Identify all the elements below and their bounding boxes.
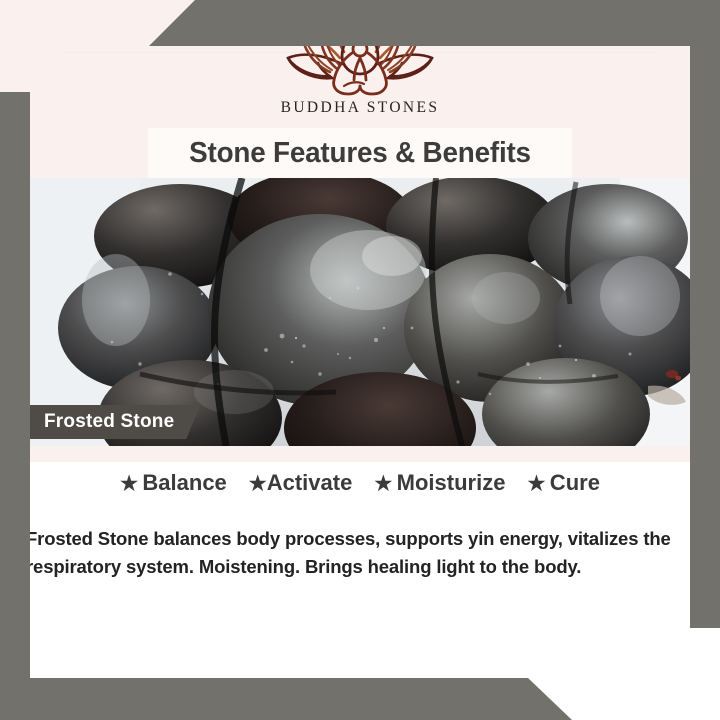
benefit-label: Activate <box>267 470 353 495</box>
frame-right-bar <box>690 0 720 720</box>
stone-name-tag: Frosted Stone <box>20 405 200 439</box>
stone-description: Frosted Stone balances body processes, s… <box>26 525 698 581</box>
title-banner: Stone Features & Benefits <box>148 128 572 178</box>
promo-card: BUDDHA STONES Stone Features & Benefits <box>0 0 720 720</box>
content-background <box>20 564 700 678</box>
star-icon: ★ <box>374 473 392 495</box>
brand-name: BUDDHA STONES <box>0 99 720 117</box>
star-icon: ★ <box>249 473 267 495</box>
stone-name-label: Frosted Stone <box>44 411 174 433</box>
section-divider-band <box>20 446 700 462</box>
star-icon: ★ <box>120 473 138 495</box>
page-title: Stone Features & Benefits <box>189 137 531 170</box>
benefit-label: Cure <box>545 470 600 495</box>
benefits-list: ★ Balance ★Activate ★ Moisturize ★ Cure <box>20 470 700 496</box>
frame-left-bar <box>0 0 30 720</box>
benefit-label: Balance <box>138 470 227 495</box>
star-icon: ★ <box>527 473 545 495</box>
benefit-label: Moisturize <box>392 470 505 495</box>
